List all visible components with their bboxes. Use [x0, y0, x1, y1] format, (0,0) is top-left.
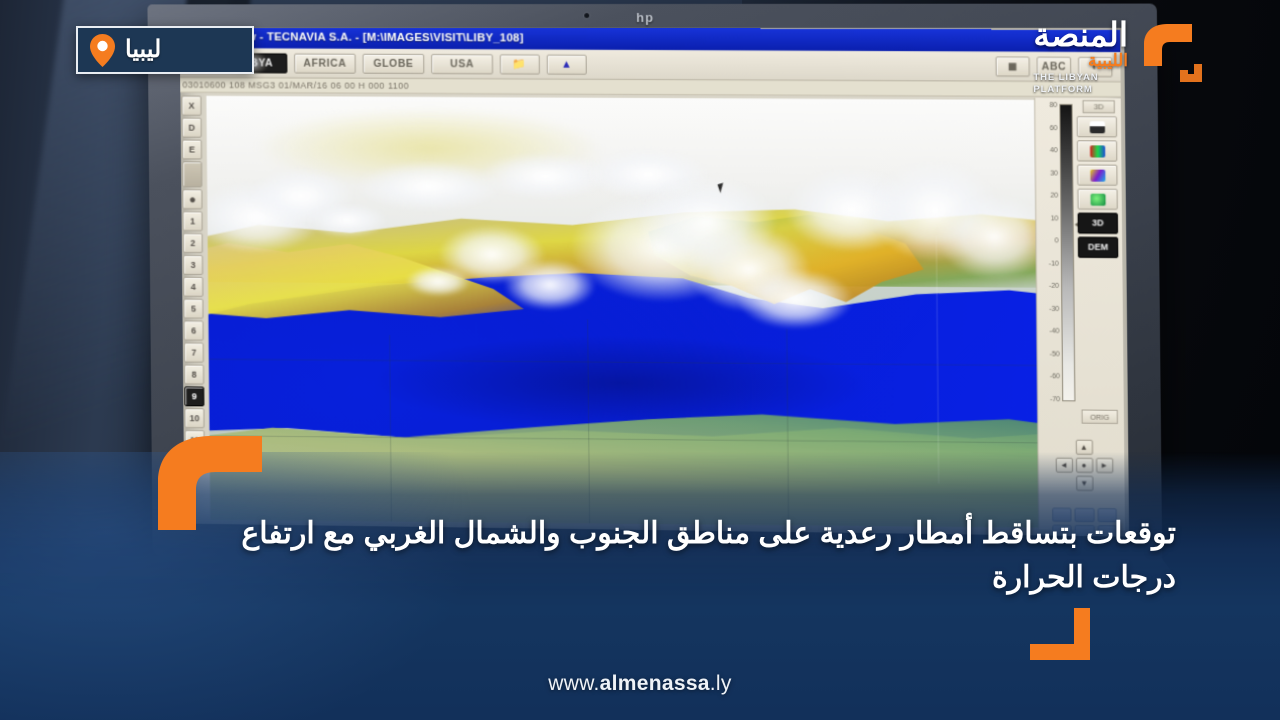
tab-globe[interactable]: GLOBE: [363, 53, 425, 73]
laptop-brand-label: hp: [636, 10, 654, 25]
panel-button-stack[interactable]: 3D DEM: [1077, 116, 1119, 258]
brand-arabic-primary: المنصة: [1033, 18, 1128, 51]
terrain-swatch-button[interactable]: [1077, 116, 1118, 137]
scale-gradient-bar[interactable]: [1059, 104, 1075, 401]
folder-icon: 📁: [513, 58, 527, 70]
channel-button-9[interactable]: 9: [184, 386, 204, 406]
channel-button-3[interactable]: 3: [183, 255, 203, 275]
scale-tick-labels: 80 60 40 30 20 10 0 -10 -20 -30 -40 -50: [1039, 102, 1060, 403]
status-line: 03010600 108 MSG3 01/MAR/16 06 00 H 000 …: [180, 78, 1121, 98]
scale-tick-m70: -70: [1042, 396, 1060, 403]
tool-button-e[interactable]: E: [182, 140, 202, 160]
scale-tick-40: 40: [1040, 147, 1058, 154]
scale-tick-10: 10: [1040, 215, 1058, 222]
app-toolbar[interactable]: LIBYA AFRICA GLOBE USA ☁ 📁 ▲ ◼ ABC ◐: [180, 48, 1121, 82]
scale-tick-m50: -50: [1042, 351, 1060, 358]
terrain-swatch-icon: [1089, 121, 1104, 133]
url-tld: .ly: [710, 672, 732, 695]
channel-button-6[interactable]: 6: [184, 321, 204, 341]
terrain-icon-button[interactable]: ▲: [547, 54, 587, 74]
scale-tick-m40: -40: [1041, 328, 1059, 335]
brand-wordmark: المنصة الليبية THE LIBYAN PLATFORM: [1033, 18, 1128, 95]
scale-tick-20: 20: [1040, 192, 1058, 199]
brand-logo: المنصة الليبية THE LIBYAN PLATFORM: [1033, 18, 1214, 95]
brand-mark-icon: [1140, 22, 1214, 92]
folder-icon-button[interactable]: 📁: [500, 54, 540, 74]
green-swatch-button[interactable]: [1077, 189, 1118, 210]
temperature-scale[interactable]: 80 60 40 30 20 10 0 -10 -20 -30 -40 -50: [1039, 102, 1078, 404]
scale-tick-m60: -60: [1042, 373, 1060, 380]
scale-tick-m20: -20: [1041, 283, 1059, 290]
rgb-swatch-button[interactable]: [1077, 140, 1118, 161]
tool-divider: [182, 161, 202, 187]
channel-button-8[interactable]: 8: [184, 364, 204, 384]
mode-dem-button[interactable]: DEM: [1078, 237, 1119, 258]
palette-icon-button[interactable]: ◼: [995, 56, 1029, 76]
headline-text: توقعات بتساقط أمطار رعدية على مناطق الجن…: [186, 512, 1176, 600]
scale-tick-0: 0: [1041, 238, 1059, 245]
scale-tick-60: 60: [1039, 125, 1057, 132]
rgb-swatch-icon: [1090, 145, 1105, 157]
scale-tick-m10: -10: [1041, 260, 1059, 267]
tool-button-dot[interactable]: ●: [182, 189, 202, 209]
brand-arabic-secondary: الليبية: [1033, 52, 1128, 69]
scale-tick-80: 80: [1039, 102, 1057, 109]
palette-icon: ◼: [1008, 60, 1018, 72]
channel-button-7[interactable]: 7: [184, 343, 204, 363]
orig-button[interactable]: ORIG: [1081, 410, 1117, 424]
channel-button-10[interactable]: 10: [185, 408, 205, 428]
tool-button-d[interactable]: D: [182, 118, 202, 138]
channel-button-1[interactable]: 1: [183, 211, 203, 231]
channel-button-5[interactable]: 5: [183, 299, 203, 319]
brand-english-line2: PLATFORM: [1033, 84, 1128, 96]
poster-canvas: hp r View - TECNAVIA S.A. - [M:\IMAGES\V…: [0, 0, 1280, 720]
mix-swatch-button[interactable]: [1077, 164, 1118, 185]
panel-mode-label: 3D: [1083, 100, 1115, 113]
mix-swatch-icon: [1090, 169, 1105, 181]
green-swatch-icon: [1090, 193, 1105, 205]
channel-button-2[interactable]: 2: [183, 233, 203, 253]
url-prefix: www.: [548, 672, 599, 695]
scale-tick-30: 30: [1040, 170, 1058, 177]
location-label: ليبيا: [125, 38, 161, 62]
channel-button-4[interactable]: 4: [183, 277, 203, 297]
cloud-wisp-1: [306, 202, 389, 236]
scale-tick-m30: -30: [1041, 306, 1059, 313]
brand-english: THE LIBYAN PLATFORM: [1033, 72, 1128, 95]
mode-3d-button[interactable]: 3D: [1078, 213, 1119, 234]
decorative-bracket-small-icon: [1028, 608, 1102, 660]
toolbar-spacer: [594, 64, 989, 66]
map-pin-icon: [90, 34, 115, 67]
location-badge: ليبيا: [76, 26, 254, 74]
tool-button-x[interactable]: X: [182, 96, 202, 116]
url-name: almenassa: [600, 672, 710, 695]
tab-africa[interactable]: AFRICA: [294, 53, 356, 73]
website-url: www.almenassa.ly: [0, 672, 1280, 696]
tab-usa[interactable]: USA: [431, 54, 493, 74]
brand-english-line1: THE LIBYAN: [1033, 72, 1128, 84]
terrain-icon: ▲: [561, 58, 573, 70]
